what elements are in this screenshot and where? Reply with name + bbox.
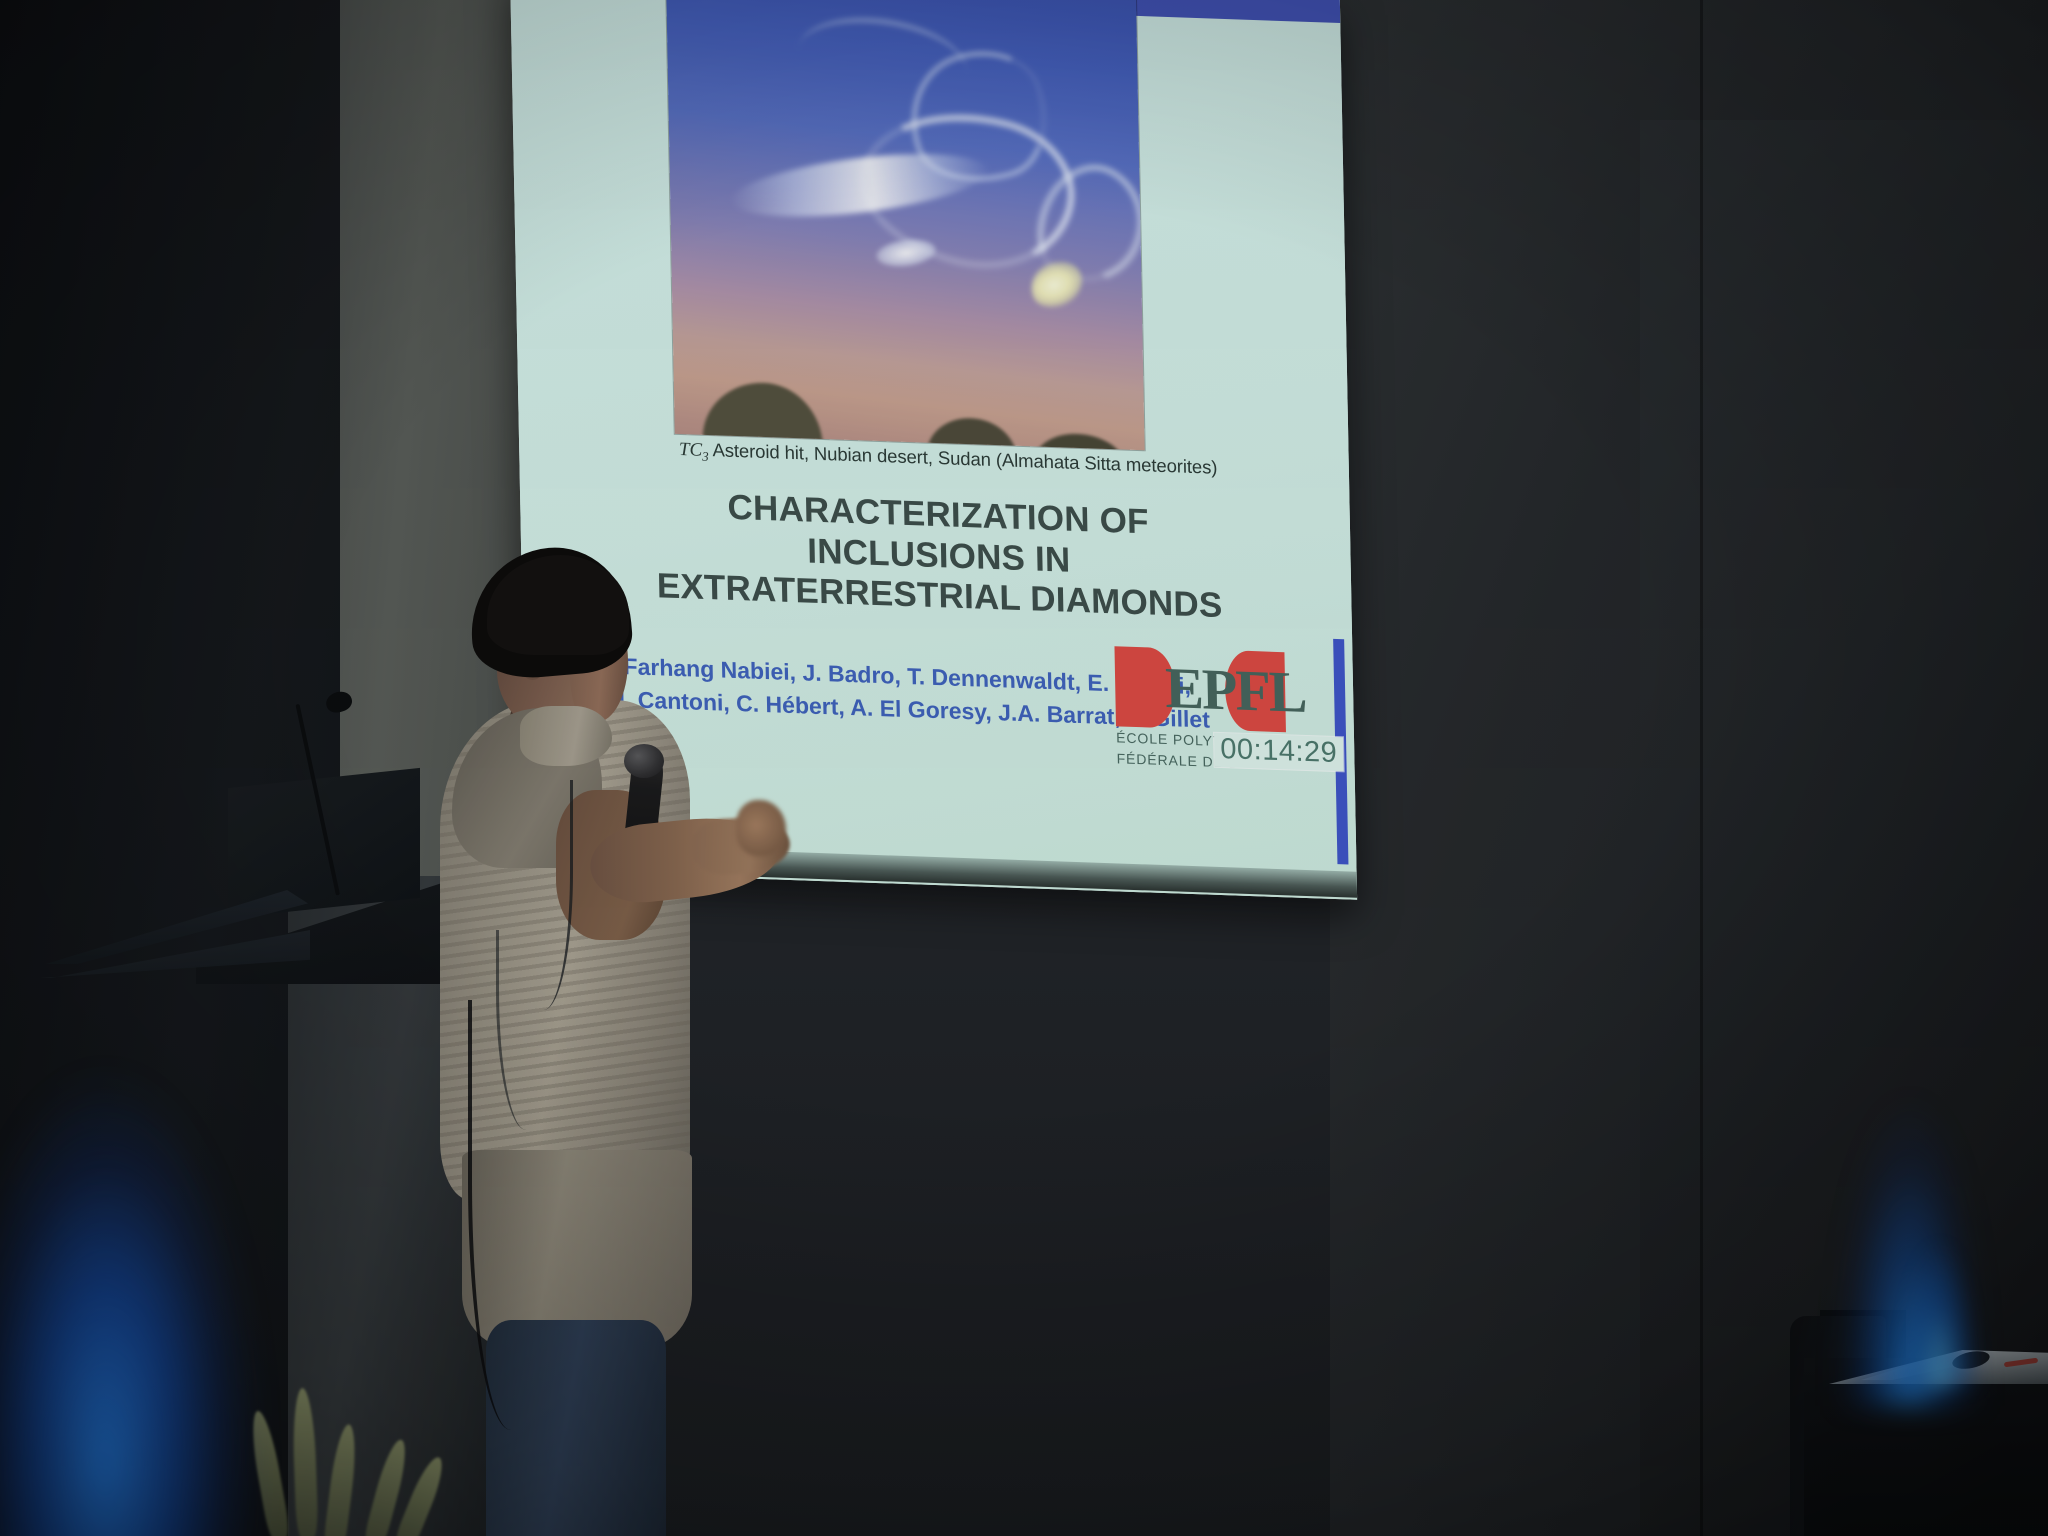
epfl-logo-letters: EPFL: [1165, 654, 1244, 727]
potted-plant: [250, 1380, 450, 1536]
epfl-logo-mark: EPFL: [1114, 646, 1286, 732]
wall-seam: [1700, 0, 1703, 1536]
handheld-microphone-head: [624, 744, 664, 778]
foreground-rock: [926, 417, 1017, 451]
plant-frond: [322, 1423, 360, 1536]
bright-smoke-knot: [874, 236, 938, 270]
asteroid-fireball-photo: [666, 0, 1145, 450]
blue-accent-uplight-left: [0, 816, 270, 1536]
countdown-timer: 00:14:29: [1214, 733, 1344, 772]
presenter-hand: [736, 800, 786, 856]
presenter-collar: [520, 706, 612, 766]
foreground-rock: [1032, 432, 1125, 450]
slide-title: CHARACTERIZATION OF INCLUSIONS IN EXTRAT…: [618, 484, 1260, 628]
blue-accent-uplight-right-inner: [1880, 1086, 2000, 1386]
caption-tc3-label: TC3: [679, 439, 709, 461]
conference-room-photo: TC3 Asteroid hit, Nubian desert, Sudan (…: [0, 0, 2048, 1536]
plant-frond: [291, 1388, 318, 1536]
